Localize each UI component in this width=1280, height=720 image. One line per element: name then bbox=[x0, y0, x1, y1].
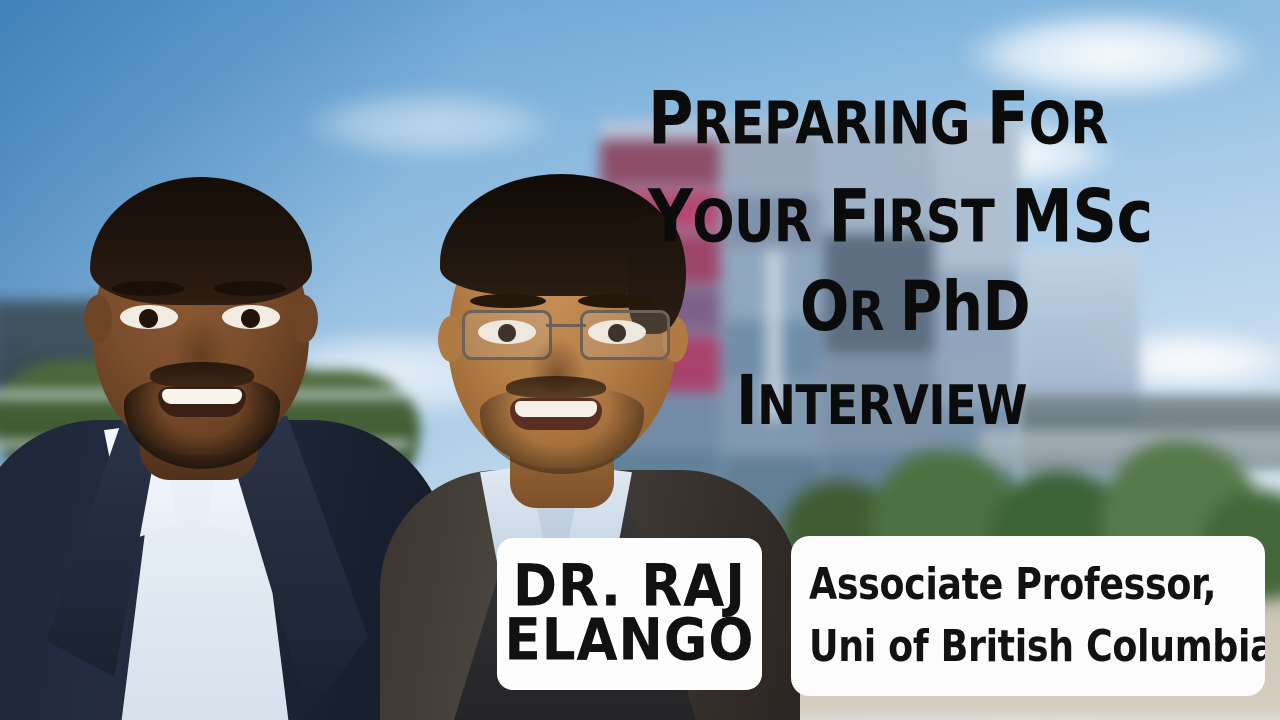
title-line-2: YOUR FIRST MSc bbox=[648, 180, 1153, 253]
teeth bbox=[162, 389, 242, 404]
eyebrow-right bbox=[578, 294, 654, 308]
ear-left bbox=[84, 295, 112, 343]
title-line-3: OR PhD bbox=[800, 272, 1030, 340]
mouth bbox=[158, 387, 246, 417]
pupil-left bbox=[139, 309, 158, 328]
ear-left bbox=[438, 316, 464, 362]
person-host-presenter bbox=[0, 165, 420, 720]
title-line-2-text: YOUR FIRST MSc bbox=[648, 173, 1153, 259]
mouth bbox=[510, 398, 602, 430]
ear-right bbox=[290, 295, 318, 343]
affiliation-line-2: Uni of British Columbia bbox=[809, 616, 1229, 678]
title-line-4-text: INTERVIEW bbox=[736, 360, 1027, 440]
title-line-1-first-letter: PREPARING FOR bbox=[648, 75, 1108, 161]
pupil-right bbox=[241, 309, 260, 328]
title-line-3-text: OR PhD bbox=[800, 266, 1030, 346]
teeth bbox=[515, 401, 597, 417]
title-line-4: INTERVIEW bbox=[736, 366, 1027, 434]
glasses-lens-right bbox=[580, 310, 670, 360]
eyebrow-left bbox=[470, 294, 546, 308]
affiliation-line-1: Associate Professor, bbox=[809, 554, 1229, 616]
youtube-thumbnail: PREPARING FOR YOUR FIRST MSc OR PhD INTE… bbox=[0, 0, 1280, 720]
speaker-name-line-2: ELANGO bbox=[505, 611, 755, 670]
hair bbox=[440, 174, 682, 296]
speaker-name-badge: DR. RAJ ELANGO bbox=[497, 538, 762, 690]
title-line-1: PREPARING FOR bbox=[648, 82, 1108, 155]
speaker-affiliation-box: Associate Professor, Uni of British Colu… bbox=[791, 536, 1265, 696]
cloud-shape bbox=[300, 90, 560, 160]
glasses-bridge bbox=[546, 324, 586, 327]
eyebrow-right bbox=[214, 281, 286, 296]
mustache bbox=[150, 362, 254, 388]
eyebrow-left bbox=[112, 281, 184, 296]
mustache bbox=[506, 376, 606, 398]
